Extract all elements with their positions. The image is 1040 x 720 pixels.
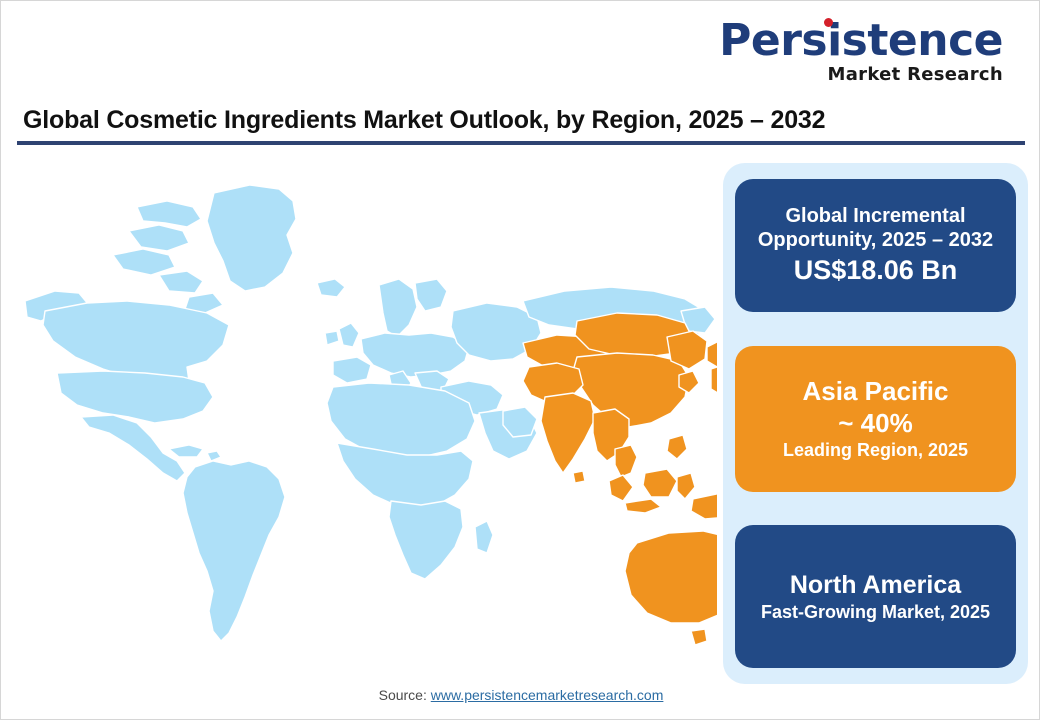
card-1-line1: Global Incremental bbox=[785, 204, 965, 228]
card-1-value: US$18.06 Bn bbox=[794, 254, 958, 287]
card-global-incremental-opportunity[interactable]: Global Incremental Opportunity, 2025 – 2… bbox=[735, 179, 1016, 312]
card-1-line2: Opportunity, 2025 – 2032 bbox=[758, 228, 993, 252]
page-title: Global Cosmetic Ingredients Market Outlo… bbox=[23, 106, 1023, 135]
source-link[interactable]: www.persistencemarketresearch.com bbox=[431, 687, 664, 703]
infographic-page: Persistence Market Research Global Cosme… bbox=[0, 0, 1040, 720]
card-2-region-name: Asia Pacific bbox=[803, 375, 949, 407]
card-leading-region[interactable]: Asia Pacific ~ 40% Leading Region, 2025 bbox=[735, 346, 1016, 492]
card-2-caption: Leading Region, 2025 bbox=[783, 439, 968, 462]
company-logo: Persistence Market Research bbox=[719, 19, 1003, 84]
card-3-caption: Fast-Growing Market, 2025 bbox=[761, 601, 990, 624]
logo-tagline: Market Research bbox=[719, 66, 1003, 84]
logo-brand-label: Persistence bbox=[719, 15, 1003, 66]
stats-panel: Global Incremental Opportunity, 2025 – 2… bbox=[723, 163, 1028, 684]
world-map bbox=[17, 161, 717, 671]
source-label: Source: bbox=[379, 687, 431, 703]
logo-brand-text: Persistence bbox=[719, 19, 1003, 63]
card-fast-growing-market[interactable]: North America Fast-Growing Market, 2025 bbox=[735, 525, 1016, 668]
source-line: Source: www.persistencemarketresearch.co… bbox=[1, 687, 1040, 703]
card-2-share-value: ~ 40% bbox=[838, 407, 912, 439]
title-underline-rule bbox=[17, 141, 1025, 145]
card-3-region-name: North America bbox=[790, 569, 961, 602]
map-region-asia-pacific bbox=[523, 313, 717, 645]
world-map-svg bbox=[17, 161, 717, 671]
